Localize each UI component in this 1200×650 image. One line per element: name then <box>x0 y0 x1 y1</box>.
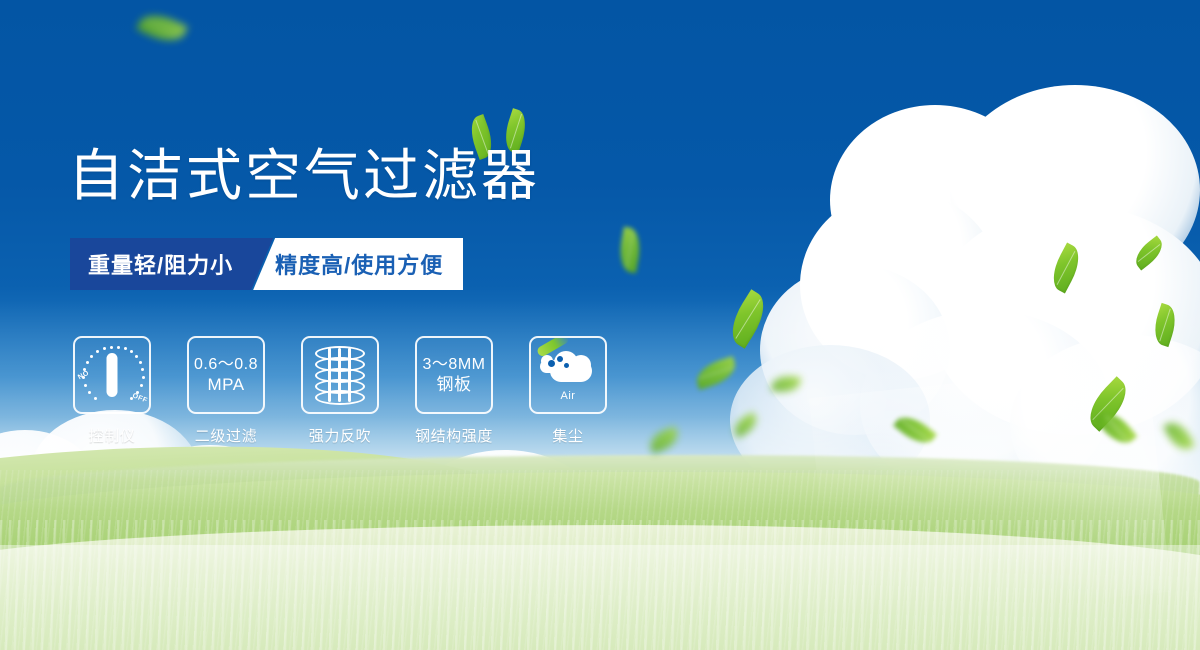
air-cloud-icon: Air <box>538 346 598 404</box>
coil-icon <box>312 344 368 406</box>
feature-tile: Air <box>529 336 607 414</box>
tagline-badge-primary: 重量轻/阻力小 <box>70 238 273 290</box>
feature-tile <box>301 336 379 414</box>
feature-list: NO OFF 控制仪 0.6～0.8 MPA 二级过滤 <box>70 336 610 446</box>
feature-item-secondary-filter[interactable]: 0.6～0.8 MPA 二级过滤 <box>184 336 268 446</box>
pressure-text-icon: 0.6～0.8 MPA <box>194 355 258 395</box>
gauge-needle <box>107 353 118 397</box>
feature-label: 二级过滤 <box>195 425 257 446</box>
banner-content: 自洁式空气过滤器 重量轻/阻力小 精度高/使用方便 <box>0 0 1200 650</box>
steel-thickness: 3～8MM <box>423 355 486 375</box>
product-banner: 自洁式空气过滤器 重量轻/阻力小 精度高/使用方便 <box>0 0 1200 650</box>
feature-item-dust-collection[interactable]: Air 集尘 <box>526 336 610 446</box>
feature-item-steel-strength[interactable]: 3～8MM 钢板 钢结构强度 <box>412 336 496 446</box>
feature-tile: 3～8MM 钢板 <box>415 336 493 414</box>
feature-label: 集尘 <box>552 425 583 446</box>
feature-label: 钢结构强度 <box>415 425 493 446</box>
feature-label: 控制仪 <box>89 425 136 446</box>
feature-tile: 0.6～0.8 MPA <box>187 336 265 414</box>
steel-plate-text-icon: 3～8MM 钢板 <box>423 355 486 395</box>
feature-tile: NO OFF <box>73 336 151 414</box>
gauge-label-off: OFF <box>131 392 148 404</box>
pressure-unit: MPA <box>194 375 258 395</box>
gauge-icon: NO OFF <box>79 345 145 405</box>
feature-item-controller[interactable]: NO OFF 控制仪 <box>70 336 154 446</box>
pressure-value: 0.6～0.8 <box>194 355 258 375</box>
air-label: Air <box>538 390 598 402</box>
tagline-bar: 重量轻/阻力小 精度高/使用方便 <box>70 238 463 290</box>
feature-item-blowback[interactable]: 强力反吹 <box>298 336 382 446</box>
steel-material: 钢板 <box>423 375 486 395</box>
feature-label: 强力反吹 <box>309 425 371 446</box>
gauge-label-no: NO <box>77 370 90 382</box>
page-title: 自洁式空气过滤器 <box>68 143 540 209</box>
tagline-badge-secondary: 精度高/使用方便 <box>253 238 463 290</box>
